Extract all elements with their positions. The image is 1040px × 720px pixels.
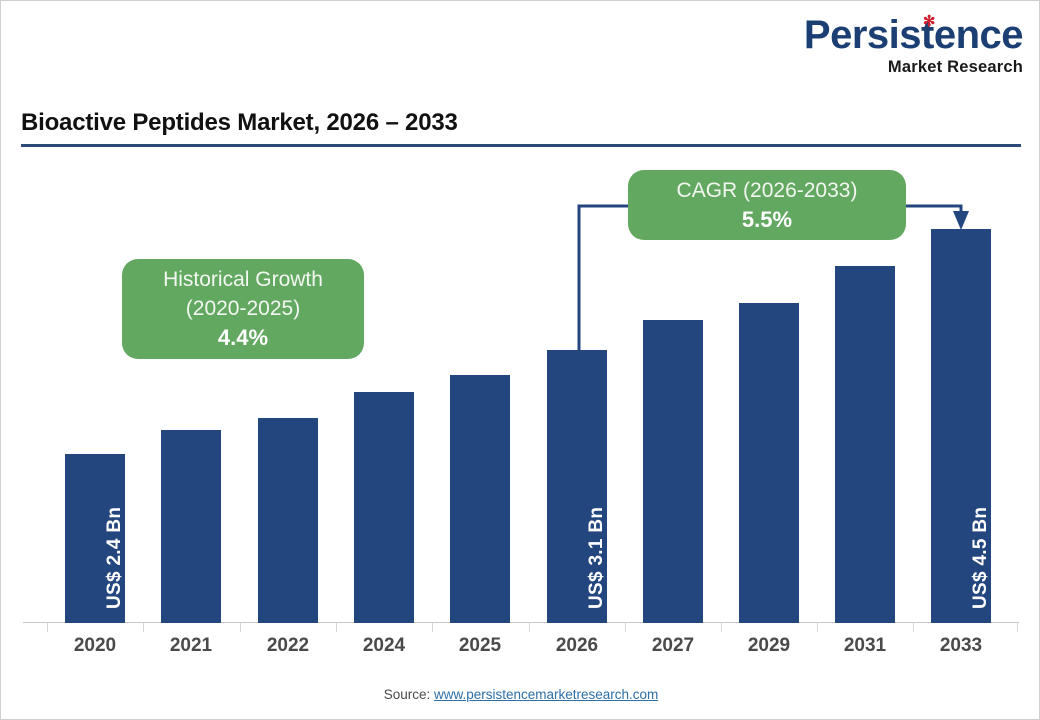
bar-value-label-2033: US$ 4.5 Bn xyxy=(970,507,992,609)
bar-2027[interactable] xyxy=(643,320,703,623)
x-tick-label-2027: 2027 xyxy=(625,635,721,657)
x-tick-label-2022: 2022 xyxy=(240,635,336,657)
callout-historical-line1: Historical Growth xyxy=(163,265,323,294)
bar-2021[interactable] xyxy=(161,430,221,623)
bar-2025[interactable] xyxy=(450,375,510,623)
callout-cagr-value: 5.5% xyxy=(742,205,792,235)
callout-cagr: CAGR (2026-2033) 5.5% xyxy=(628,170,906,240)
x-axis-tick xyxy=(913,623,914,632)
x-axis-tick xyxy=(432,623,433,632)
source-footer: Source: www.persistencemarketresearch.co… xyxy=(1,687,1040,702)
x-tick-label-2024: 2024 xyxy=(336,635,432,657)
source-label: Source: xyxy=(384,687,434,702)
x-tick-label-2033: 2033 xyxy=(913,635,1009,657)
x-tick-label-2031: 2031 xyxy=(817,635,913,657)
callout-historical-value: 4.4% xyxy=(218,323,268,353)
callout-historical-line2: (2020-2025) xyxy=(186,294,300,323)
x-tick-label-2025: 2025 xyxy=(432,635,528,657)
x-tick-label-2020: 2020 xyxy=(47,635,143,657)
bar-2024[interactable] xyxy=(354,392,414,623)
x-tick-label-2029: 2029 xyxy=(721,635,817,657)
bar-2022[interactable] xyxy=(258,418,318,623)
x-axis-tick xyxy=(240,623,241,632)
x-axis-tick xyxy=(817,623,818,632)
bar-value-label-2026: US$ 3.1 Bn xyxy=(586,507,608,609)
x-axis-tick xyxy=(1017,623,1018,632)
callout-historical-growth: Historical Growth (2020-2025) 4.4% xyxy=(122,259,364,359)
x-axis-tick xyxy=(721,623,722,632)
x-tick-label-2026: 2026 xyxy=(529,635,625,657)
x-tick-label-2021: 2021 xyxy=(143,635,239,657)
x-axis-tick xyxy=(336,623,337,632)
source-link[interactable]: www.persistencemarketresearch.com xyxy=(434,687,658,702)
x-axis-tick xyxy=(529,623,530,632)
x-axis-tick xyxy=(625,623,626,632)
bar-2031[interactable] xyxy=(835,266,895,623)
chart-plot-area: US$ 2.4 Bn20202021202220242025US$ 3.1 Bn… xyxy=(1,1,1040,720)
callout-cagr-line1: CAGR (2026-2033) xyxy=(677,176,858,205)
x-axis-tick xyxy=(143,623,144,632)
bar-2029[interactable] xyxy=(739,303,799,623)
bar-value-label-2020: US$ 2.4 Bn xyxy=(104,507,126,609)
x-axis-tick xyxy=(47,623,48,632)
chart-page: Persistence ✻ Market Research Bioactive … xyxy=(0,0,1040,720)
